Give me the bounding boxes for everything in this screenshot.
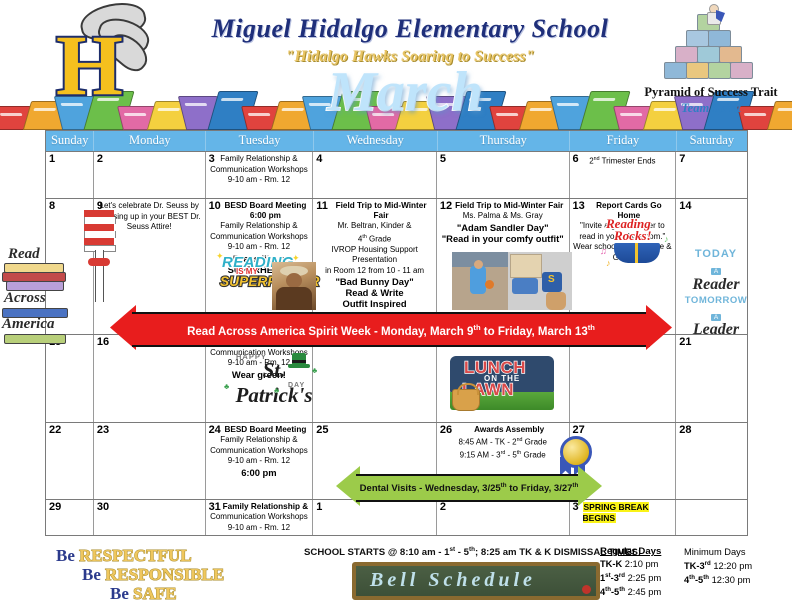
day-event-line: Family Relationship & (208, 221, 311, 232)
month-title: March (255, 62, 555, 122)
pbis-word: RESPECTFUL (79, 546, 191, 565)
logo-letter: H (56, 22, 121, 108)
pyramid-of-success-graphic (660, 6, 756, 84)
awards-ribbon-icon (556, 436, 590, 476)
calendar-day-cell[interactable]: 3Family Relationship &Communication Work… (206, 152, 314, 198)
day-number: 30 (97, 502, 109, 513)
pbis-be: Be (110, 584, 129, 603)
a-ribbon-1: A (711, 268, 721, 275)
day-event-line: 9-10 am - Rm. 12 (208, 175, 311, 186)
day-number: 25 (316, 425, 328, 436)
day-content: Awards Assembly8:45 AM - TK - 2nd Grade9… (439, 425, 567, 461)
calendar-header: H Miguel Hidalgo Elementary School "Hida… (0, 0, 792, 130)
calendar-day-cell[interactable]: 4 (313, 152, 437, 198)
calendar-week-row: 293031Family Relationship &Communication… (45, 500, 748, 536)
read-across-word-1: Read (8, 246, 40, 263)
calendar-day-cell[interactable]: 28 (676, 423, 747, 499)
day-number: 12 (440, 201, 452, 212)
calendar-day-cell[interactable]: 24BESD Board MeetingFamily Relationship … (206, 423, 314, 499)
day-content: Family Relationship &Communication Works… (208, 154, 311, 186)
day-number: 2 (440, 502, 446, 513)
day-event-emphasis: "Adam Sandler Day" (439, 222, 567, 233)
calendar-day-cell[interactable]: 15 (46, 335, 94, 422)
pyramid-block (675, 46, 698, 63)
calendar-day-cell[interactable]: 2 (94, 152, 206, 198)
today-word: TODAY (684, 248, 748, 260)
day-event-line: 4th Grade (315, 232, 434, 245)
pyramid-block (708, 30, 731, 47)
adam-sandler-outfit-photo (452, 252, 572, 310)
pyramid-title: Pyramid of Success Trait (636, 85, 786, 100)
weekday-header-friday: Friday (570, 131, 677, 151)
day-number: 7 (679, 154, 685, 165)
day-number: 13 (573, 201, 585, 212)
day-event-line: 8:45 AM - TK - 2nd Grade (439, 435, 567, 448)
calendar-day-cell[interactable]: 1 (313, 500, 437, 535)
day-event-emphasis: Read & Write (315, 287, 434, 298)
bad-bunny-photo (272, 262, 316, 310)
calendar-day-cell[interactable]: 5 (437, 152, 570, 198)
calendar-day-cell[interactable]: 1 (46, 152, 94, 198)
pyramid-block (664, 62, 687, 79)
school-start-times: SCHOOL STARTS @ 8:10 am - 1st - 5th; 8:2… (304, 546, 641, 558)
day-number: 4 (316, 154, 322, 165)
day-number: 27 (573, 425, 585, 436)
dismissal-row: TK-K 2:10 pm (600, 558, 661, 570)
green-banner-text: Dental Visits - Wednesday, 3/25th to Fri… (336, 474, 602, 498)
day-number: 14 (679, 201, 691, 212)
calendar-day-cell[interactable]: 30 (94, 500, 206, 535)
read-across-word-2: Across (4, 290, 46, 307)
dismissal-row: 4th-5th 12:30 pm (684, 572, 752, 586)
pbis-line: Be RESPONSIBLE (52, 565, 302, 584)
reader-word: Reader (684, 276, 748, 294)
day-number: 28 (679, 425, 691, 436)
stpat-day: DAY (288, 382, 305, 389)
day-event-line: Family Relationship & (208, 154, 311, 165)
pbis-line: Be SAFE (52, 584, 302, 603)
day-event-line: Mr. Beltran, Kinder & (315, 221, 434, 232)
read-across-america-clipart: Read Across America (2, 246, 74, 346)
weekday-header-monday: Monday (94, 131, 206, 151)
today-reader-tomorrow-leader-clipart: TODAY A Reader TOMORROW A Leader (684, 248, 748, 314)
reading-rocks-clipart: Reading Rocks! ♫ ♪ ♪ (598, 216, 678, 268)
pbis-expectations: Be RESPECTFULBe RESPONSIBLEBe SAFE (52, 546, 302, 603)
day-event-title: Field Trip to Mid-Winter Fair (315, 201, 434, 221)
leader-word: Leader (684, 321, 748, 339)
day-event-line: Ms. Palma & Ms. Gray (439, 211, 567, 222)
bell-schedule-sign: Bell Schedule (352, 562, 600, 600)
leprechaun-hat-icon (288, 353, 310, 368)
day-event-line: Communication Workshops (208, 446, 311, 457)
calendar-day-cell[interactable]: 21 (676, 335, 747, 422)
school-hawk-logo: H (46, 4, 158, 126)
day-number: 11 (316, 201, 328, 212)
day-number: 3 (573, 502, 579, 513)
calendar-day-cell[interactable]: 23 (94, 423, 206, 499)
pyramid-block (719, 46, 742, 63)
minimum-days-dismissal: Minimum DaysTK-3rd 12:20 pm4th-5th 12:30… (684, 546, 752, 586)
pyramid-trait: Team Spirit (636, 101, 786, 116)
read-across-america-banner: Read Across America Spirit Week - Monday… (110, 312, 672, 343)
red-banner-text: Read Across America Spirit Week - Monday… (110, 312, 672, 343)
pyramid-block (686, 62, 709, 79)
weekday-header-tuesday: Tuesday (206, 131, 314, 151)
day-number: 3 (209, 154, 215, 165)
day-event-title: BESD Board Meeting 6:00 pm (208, 201, 311, 221)
day-event-line: 2nd Trimester Ends (572, 154, 674, 167)
calendar-day-cell[interactable]: 16 (94, 335, 206, 422)
pbis-line: Be RESPECTFUL (52, 546, 302, 565)
day-number: 1 (316, 502, 322, 513)
pyramid-block (708, 62, 731, 79)
calendar-day-cell[interactable]: 29 (46, 500, 94, 535)
day-event-emphasis: "Read in your comfy outfit" (439, 233, 567, 244)
a-ribbon-2: A (711, 314, 721, 321)
apple-icon (582, 585, 591, 594)
day-event-line: Communication Workshops (208, 165, 311, 176)
calendar-week-row: 123Family Relationship &Communication Wo… (45, 152, 748, 199)
day-event-line: Communication Workshops (208, 232, 311, 243)
dismissal-row: 1st-3rd 2:25 pm (600, 570, 661, 584)
pyramid-block (697, 46, 720, 63)
day-event-emphasis: "Bad Bunny Day" (315, 276, 434, 287)
day-number: 6 (573, 154, 579, 165)
day-content: Field Trip to Mid-Winter FairMs. Palma &… (439, 201, 567, 244)
pbis-word: RESPONSIBLE (105, 565, 224, 584)
dismissal-row: 4th-5th 2:45 pm (600, 584, 661, 598)
day-event-line: Family Relationship & (208, 435, 311, 446)
minimum-days-heading: Minimum Days (684, 546, 752, 558)
day-event-title: BESD Board Meeting (208, 425, 311, 435)
day-number: 22 (49, 425, 61, 436)
day-event-line: 9-10 am - Rm. 12 (208, 523, 311, 534)
day-content: 2nd Trimester Ends (572, 154, 674, 167)
bell-schedule-text: Bell Schedule (370, 569, 536, 592)
calendar-day-cell[interactable]: 62nd Trimester Ends (570, 152, 677, 198)
day-event-emphasis: Outfit Inspired (315, 298, 434, 309)
weekday-header-thursday: Thursday (438, 131, 570, 151)
pbis-be: Be (82, 565, 101, 584)
calendar-day-cell[interactable]: 31Family Relationship &Communication Wor… (206, 500, 314, 535)
calendar-footer: Be RESPECTFULBe RESPONSIBLEBe SAFE SCHOO… (0, 540, 792, 612)
calendar-day-cell[interactable]: 22 (46, 423, 94, 499)
day-number: 10 (209, 201, 221, 212)
day-number: 8 (49, 201, 55, 212)
day-event-line: in Room 12 from 10 - 11 am (315, 266, 434, 277)
calendar-day-cell[interactable]: 20 (570, 335, 677, 422)
school-name: Miguel Hidalgo Elementary School (175, 14, 645, 44)
regular-days-dismissal: Regular DaysTK-K 2:10 pm1st-3rd 2:25 pm4… (600, 546, 661, 598)
day-event-title: Family Relationship & (208, 502, 311, 512)
calendar-day-cell[interactable]: 7 (676, 152, 747, 198)
dr-seuss-hat-clipart (84, 210, 114, 310)
calendar-day-cell[interactable]: 18 (313, 335, 437, 422)
calendar-week-row: 151617Family Relationship &Communication… (45, 335, 748, 423)
pyramid-block (686, 30, 709, 47)
regular-days-heading: Regular Days (600, 546, 661, 558)
st-patricks-day-clipart: HAPPY St. Patrick's DAY ♣ ♣ ♣ (222, 352, 322, 400)
spring-break-highlight: SPRING BREAK BEGINS (583, 502, 649, 523)
day-number: 31 (209, 502, 221, 513)
calendar-day-cell[interactable]: 2 (437, 500, 570, 535)
day-number: 16 (97, 337, 109, 348)
day-content: Field Trip to Mid-Winter FairMr. Beltran… (315, 201, 434, 309)
weekday-header-wednesday: Wednesday (314, 131, 438, 151)
day-number: 29 (49, 502, 61, 513)
dismissal-row: TK-3rd 12:20 pm (684, 558, 752, 572)
weekday-header-saturday: Saturday (677, 131, 747, 151)
read-across-word-3: America (2, 316, 55, 333)
day-event-title: Field Trip to Mid-Winter Fair (439, 201, 567, 211)
reading-rocks-word-2: Rocks! (614, 228, 652, 244)
weekday-header-row: SundayMondayTuesdayWednesdayThursdayFrid… (45, 130, 748, 152)
pbis-word: SAFE (133, 584, 176, 603)
pyramid-block (730, 62, 753, 79)
superhero-figure-icon (704, 4, 722, 24)
lunch-on-the-lawn-clipart: LUNCH ON THE LAWN (450, 356, 554, 410)
pbis-be: Be (56, 546, 75, 565)
weekday-header-sunday: Sunday (46, 131, 94, 151)
day-number: 2 (97, 154, 103, 165)
day-content: SPRING BREAK BEGINS (572, 502, 674, 524)
day-event-title: Awards Assembly (439, 425, 567, 435)
day-number: 1 (49, 154, 55, 165)
day-event-line: 9:15 AM - 3rd - 5th Grade (439, 448, 567, 461)
day-event-line: 9-10 am - Rm. 12 (208, 456, 311, 467)
calendar-day-cell[interactable] (676, 500, 747, 535)
tomorrow-word: TOMORROW (684, 295, 748, 306)
day-number: 24 (209, 425, 221, 436)
day-event-emphasis: 6:00 pm (208, 467, 311, 478)
calendar-day-cell[interactable]: 3SPRING BREAK BEGINS (570, 500, 677, 535)
dental-visits-banner: Dental Visits - Wednesday, 3/25th to Fri… (336, 474, 602, 498)
day-number: 26 (440, 425, 452, 436)
day-number: 5 (440, 154, 446, 165)
day-content: BESD Board MeetingFamily Relationship &C… (208, 425, 311, 478)
day-event-line: Communication Workshops (208, 512, 311, 523)
day-number: 23 (97, 425, 109, 436)
day-event-line: IVROP Housing Support Presentation (315, 245, 434, 266)
day-content: Family Relationship &Communication Works… (208, 502, 311, 533)
